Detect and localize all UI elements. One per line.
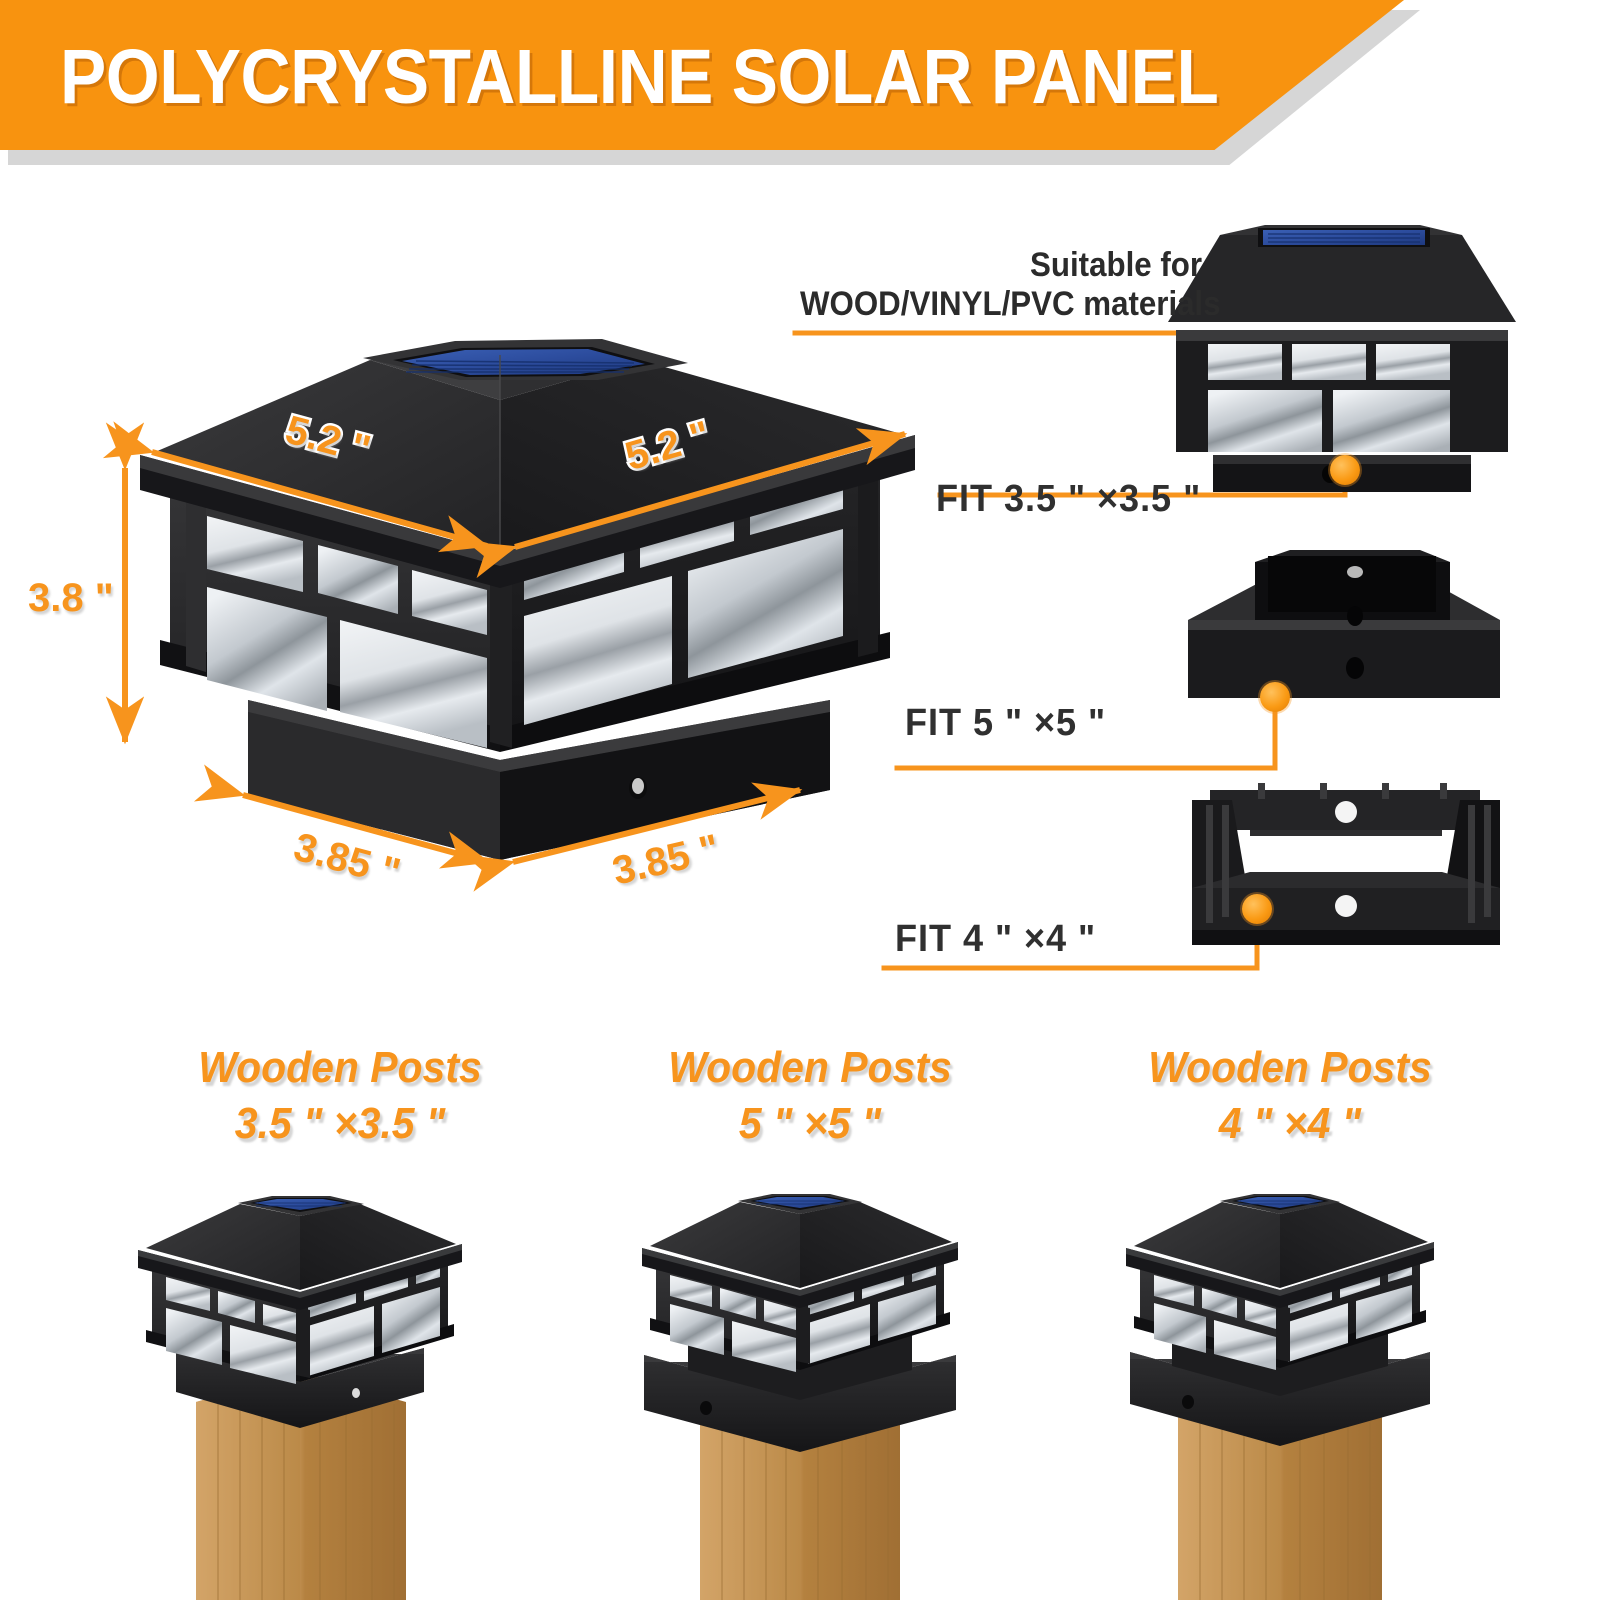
leader-dot-icon-fit4 <box>1242 894 1272 924</box>
post-heading-4: Wooden Posts 4 " ×4 " <box>1095 1040 1486 1152</box>
header-banner: POLYCRYSTALLINE SOLAR PANEL <box>0 0 1420 170</box>
leader-dot-icon-fit35 <box>1330 455 1360 485</box>
fit-label-35: FIT 3.5 " ×3.5 " <box>936 478 1201 521</box>
fit-label-4: FIT 4 " ×4 " <box>895 918 1096 961</box>
arrow-top-left <box>152 452 487 546</box>
dimension-label-base-right: 3.85 " <box>608 826 723 894</box>
post-assembly-5 <box>642 1194 958 1600</box>
dimension-arrows <box>125 434 905 862</box>
infographic-canvas: POLYCRYSTALLINE SOLAR PANEL <box>0 0 1600 1600</box>
main-product-illustration <box>0 0 1600 1600</box>
dimension-label-base-left: 3.85 " <box>289 825 405 896</box>
cap-mullions <box>186 471 878 748</box>
leader-dot-icon-fit5 <box>1260 682 1290 712</box>
main-cap-roof <box>140 339 915 588</box>
post-assembly-4 <box>1126 1194 1434 1600</box>
glass-panes-right <box>524 461 843 725</box>
main-cap-body <box>160 470 890 752</box>
post-assembly-35 <box>138 1196 462 1600</box>
page-title: POLYCRYSTALLINE SOLAR PANEL <box>60 33 1218 122</box>
post-heading-35: Wooden Posts 3.5 " ×3.5 " <box>135 1040 544 1152</box>
solar-panel-icon <box>402 349 645 375</box>
material-note-line1: Suitable for <box>1030 246 1202 285</box>
fit-label-5: FIT 5 " ×5 " <box>905 702 1106 745</box>
dimension-label-top-right: 5.2 " <box>620 413 715 480</box>
dimension-label-top-left: 5.2 " <box>281 408 375 474</box>
glass-panes-left <box>207 516 487 748</box>
post-heading-5: Wooden Posts 5 " ×5 " <box>615 1040 1006 1152</box>
material-note-line2: WOOD/VINYL/PVC materials <box>800 285 1221 324</box>
product-view-fit35 <box>1168 225 1516 492</box>
dimension-label-height: 3.8 " <box>28 576 114 621</box>
callout-leader-lines <box>795 333 1345 968</box>
product-view-fit5 <box>1188 550 1500 698</box>
product-view-fit4 <box>1192 783 1500 945</box>
